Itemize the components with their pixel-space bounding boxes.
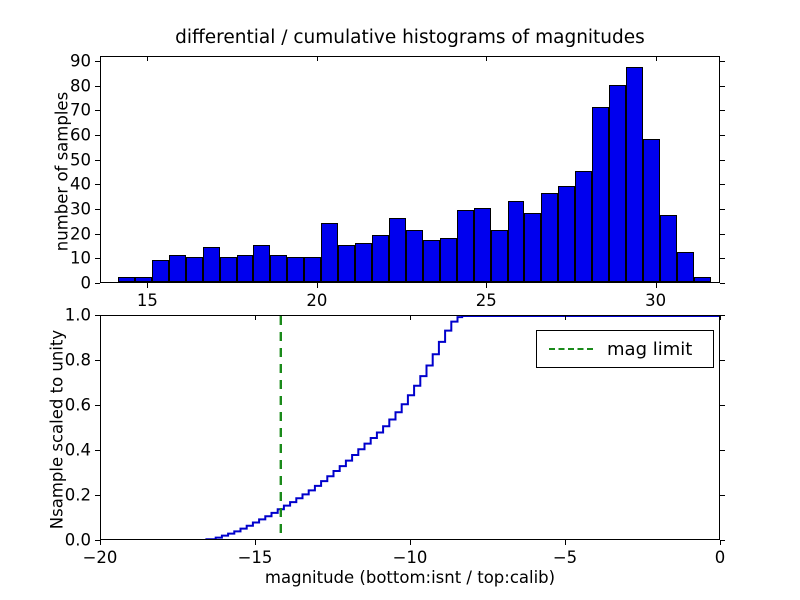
bottom-panel-x-tick-label: 0 (715, 548, 726, 567)
bottom-panel-y-tick-right (720, 450, 725, 451)
histogram-bar (575, 171, 592, 282)
histogram-bar (253, 245, 270, 282)
histogram-bar (508, 201, 525, 282)
top-panel-x-tick (486, 283, 487, 288)
top-panel-y-tick-right (720, 160, 725, 161)
histogram-bar (338, 245, 355, 282)
histogram-bar (558, 186, 575, 282)
top-panel-axes (100, 56, 720, 283)
top-panel-x-tick-top (317, 56, 318, 61)
bottom-panel-y-tick-label: 0.8 (0, 351, 91, 370)
top-panel-y-tick (95, 234, 100, 235)
histogram-bar (677, 252, 694, 282)
top-panel-y-tick-label: 70 (0, 101, 91, 120)
bottom-panel-y-tick-right (720, 360, 725, 361)
bottom-panel-y-tick (95, 450, 100, 451)
histogram-bar (406, 230, 423, 282)
top-panel-plot-area (101, 57, 719, 282)
bottom-panel-x-tick (565, 540, 566, 545)
legend-label-mag-limit: mag limit (607, 339, 692, 360)
bottom-panel-y-tick-label: 0.0 (0, 531, 91, 550)
bottom-panel-x-tick-top (720, 315, 721, 320)
top-panel-y-tick-right (720, 209, 725, 210)
bottom-panel-x-axis-label: magnitude (bottom:isnt / top:calib) (100, 568, 720, 587)
top-panel-y-tick-right (720, 86, 725, 87)
top-panel-y-tick-label: 40 (0, 175, 91, 194)
top-panel-y-tick (95, 184, 100, 185)
top-panel-x-tick (147, 283, 148, 288)
top-panel-y-tick (95, 86, 100, 87)
top-panel-y-tick-label: 30 (0, 199, 91, 218)
top-panel-y-tick (95, 160, 100, 161)
histogram-bar (457, 210, 474, 282)
bottom-panel-y-tick-label: 0.4 (0, 441, 91, 460)
histogram-bar (423, 240, 440, 282)
bottom-panel-y-tick (95, 495, 100, 496)
top-panel-y-tick (95, 283, 100, 284)
bottom-panel-x-tick (255, 540, 256, 545)
histogram-bar (643, 139, 660, 282)
histogram-bar (270, 255, 287, 282)
bottom-panel-y-tick-right (720, 495, 725, 496)
bottom-panel-x-tick-top (255, 315, 256, 320)
top-panel-x-tick-top (486, 56, 487, 61)
bottom-panel-y-tick-right (720, 405, 725, 406)
top-panel-y-tick-label: 90 (0, 51, 91, 70)
histogram-bar (220, 257, 237, 282)
histogram-bar (186, 257, 203, 282)
top-panel-y-tick-right (720, 184, 725, 185)
bottom-panel-y-axis-label: Nsample scaled to unity (48, 315, 67, 545)
top-panel-y-tick-label: 50 (0, 150, 91, 169)
bottom-panel-x-tick-label: −20 (83, 548, 118, 567)
top-panel-x-tick-label: 30 (645, 291, 666, 310)
top-panel-y-tick (95, 135, 100, 136)
figure-title: differential / cumulative histograms of … (100, 27, 720, 49)
top-panel-y-tick-right (720, 135, 725, 136)
top-panel-y-tick (95, 258, 100, 259)
bottom-panel-y-tick-label: 1.0 (0, 306, 91, 325)
top-panel-x-tick-label: 20 (306, 291, 327, 310)
histogram-bar (321, 223, 338, 282)
legend-dashed-line-icon (549, 348, 593, 350)
top-panel-y-tick-right (720, 234, 725, 235)
bottom-panel-x-tick-top (100, 315, 101, 320)
histogram-bar (152, 260, 169, 282)
bottom-panel-x-tick-top (565, 315, 566, 320)
histogram-bar (626, 67, 643, 282)
bottom-panel-y-tick (95, 405, 100, 406)
histogram-bar (118, 277, 135, 282)
top-panel-y-tick-right (720, 61, 725, 62)
top-panel-y-tick-right (720, 283, 725, 284)
bottom-panel-x-tick-top (410, 315, 411, 320)
top-panel-x-tick-top (147, 56, 148, 61)
top-panel-x-tick (317, 283, 318, 288)
histogram-bar (169, 255, 186, 282)
histogram-bar (287, 257, 304, 282)
histogram-bar (609, 85, 626, 282)
histogram-bar (524, 213, 541, 282)
top-panel-y-tick-right (720, 110, 725, 111)
histogram-bar (660, 215, 677, 282)
histogram-bar (694, 277, 711, 282)
legend[interactable]: mag limit (536, 330, 714, 368)
histogram-bar (592, 107, 609, 282)
bottom-panel-x-tick (720, 540, 721, 545)
histogram-bar (203, 247, 220, 282)
histogram-bar (389, 218, 406, 282)
top-panel-y-tick (95, 110, 100, 111)
histogram-bar (135, 277, 152, 282)
top-panel-x-tick-top (656, 56, 657, 61)
histogram-bar (491, 230, 508, 282)
top-panel-y-tick-label: 0 (0, 274, 91, 293)
histogram-bar (304, 257, 321, 282)
top-panel-y-tick-label: 60 (0, 125, 91, 144)
histogram-bar (355, 243, 372, 282)
histogram-bar (541, 193, 558, 282)
histogram-bar (474, 208, 491, 282)
bottom-panel-x-tick-label: −15 (238, 548, 273, 567)
top-panel-x-tick-label: 15 (137, 291, 158, 310)
figure-canvas: differential / cumulative histograms of … (0, 0, 800, 600)
top-panel-x-tick (656, 283, 657, 288)
top-panel-y-tick-label: 20 (0, 224, 91, 243)
top-panel-y-tick-label: 80 (0, 76, 91, 95)
top-panel-y-tick (95, 61, 100, 62)
top-panel-y-tick (95, 209, 100, 210)
top-panel-y-tick-right (720, 258, 725, 259)
bottom-panel-x-tick-label: −5 (553, 548, 577, 567)
histogram-bar (372, 235, 389, 282)
bottom-panel-x-tick (100, 540, 101, 545)
histogram-bar (237, 255, 254, 282)
bottom-panel-x-tick-label: −10 (393, 548, 428, 567)
top-panel-x-tick-label: 25 (476, 291, 497, 310)
histogram-bar (440, 238, 457, 282)
top-panel-y-tick-label: 10 (0, 249, 91, 268)
bottom-panel-x-tick (410, 540, 411, 545)
bottom-panel-y-tick-label: 0.2 (0, 486, 91, 505)
top-panel-y-axis-label: number of samples (53, 82, 72, 262)
bottom-panel-y-tick-label: 0.6 (0, 396, 91, 415)
bottom-panel-y-tick (95, 360, 100, 361)
